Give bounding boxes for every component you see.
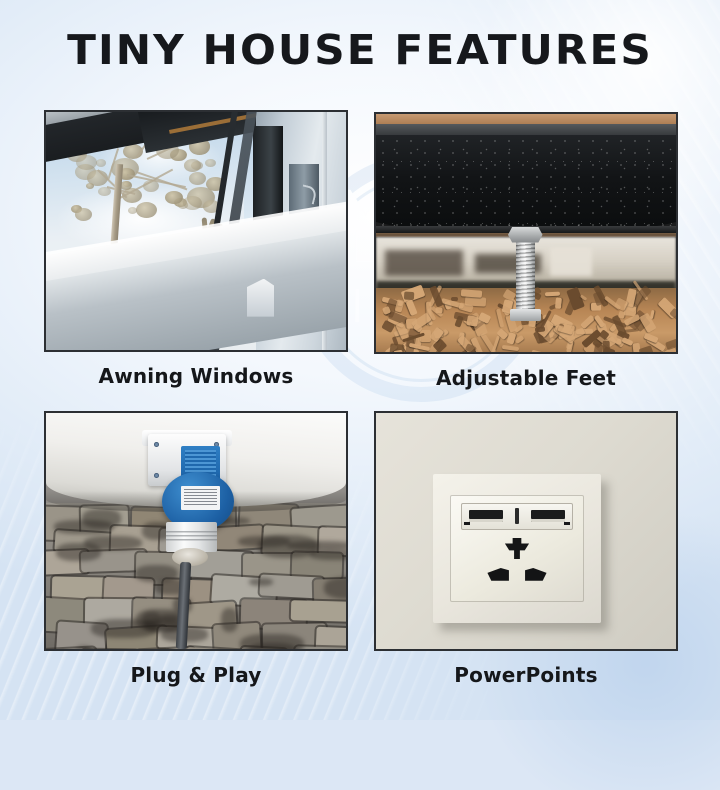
paver-stone [52, 577, 107, 601]
feature-caption: Plug & Play [44, 663, 348, 687]
tree-leaf-cluster [189, 172, 206, 185]
usb-port-right [531, 510, 564, 521]
wood-chip [405, 299, 417, 315]
awning-window-scene [46, 112, 346, 350]
wood-chip [530, 350, 544, 354]
adjustable-feet-scene [376, 114, 676, 352]
wood-chip [676, 322, 678, 336]
wood-chip [451, 297, 458, 301]
wood-chip [395, 299, 405, 312]
wood-chip [393, 350, 404, 354]
usb-strip-tab-right [564, 522, 571, 526]
paver-stone [291, 600, 348, 622]
wood-chip [461, 289, 482, 298]
paver-stone [82, 650, 138, 651]
wall-plate [433, 474, 601, 623]
live-pin-slot [487, 568, 509, 581]
tree-leaf-cluster [183, 196, 202, 210]
wood-chip [665, 338, 678, 351]
mounting-screw [154, 442, 159, 447]
tree-leaf-cluster [86, 183, 94, 189]
wet-patch [248, 643, 297, 651]
earth-pin-slot [505, 538, 529, 559]
wood-chip [436, 307, 443, 313]
wood-chip [638, 346, 654, 354]
wet-patch [84, 536, 142, 550]
usb-port-left [469, 510, 502, 521]
tree-branch [155, 169, 173, 180]
usb-divider [515, 508, 518, 523]
plug-and-play-scene [46, 413, 346, 649]
tree-leaf-cluster [184, 159, 201, 171]
foot-base-plate [510, 309, 542, 321]
awning-window-photo [44, 110, 348, 352]
socket-rating-label [181, 486, 220, 510]
wet-patch [74, 646, 94, 651]
wet-patch [310, 549, 348, 559]
paint-speckle [376, 135, 676, 230]
socket-inner-plate [450, 495, 584, 602]
tree-leaf-cluster [205, 159, 216, 167]
wood-chip [466, 315, 479, 327]
bolt-thread-texture [516, 233, 536, 314]
background-object-1 [385, 250, 463, 276]
adjustable-feet-photo [374, 112, 678, 354]
tree-leaf-cluster [96, 159, 106, 166]
powerpoints-scene [376, 413, 676, 649]
tree-leaf-cluster [75, 208, 92, 221]
plug-and-play-photo [44, 411, 348, 651]
feature-card-awning-windows: Awning Windows [44, 110, 348, 388]
feature-card-plug-and-play: Plug & Play [44, 411, 348, 687]
feature-caption: PowerPoints [374, 663, 678, 687]
usb-port-strip [461, 503, 574, 531]
tree-leaf-cluster [136, 202, 158, 218]
powerpoints-photo [374, 411, 678, 651]
page-title: TINY HOUSE FEATURES [0, 26, 720, 74]
mounting-screw [154, 473, 159, 478]
wet-patch [249, 578, 274, 586]
wood-chip [502, 345, 519, 351]
wood-chip [389, 343, 404, 354]
hex-nut [508, 227, 543, 242]
usb-strip-tab-left [464, 522, 471, 526]
feature-caption: Awning Windows [44, 364, 348, 388]
feature-card-adjustable-feet: Adjustable Feet [374, 112, 678, 390]
wood-chip [555, 297, 562, 309]
wood-chip [404, 292, 414, 300]
background-object-3 [550, 247, 592, 276]
wet-patch [238, 536, 290, 548]
neutral-pin-slot [525, 568, 547, 581]
feature-card-powerpoints: PowerPoints [374, 411, 678, 687]
wet-patch [54, 520, 112, 533]
wet-patch [221, 608, 238, 632]
wood-chip [650, 310, 655, 319]
wood-chip [544, 292, 559, 297]
feature-grid: Awning Windows Adj [0, 0, 720, 720]
feature-caption: Adjustable Feet [374, 366, 678, 390]
